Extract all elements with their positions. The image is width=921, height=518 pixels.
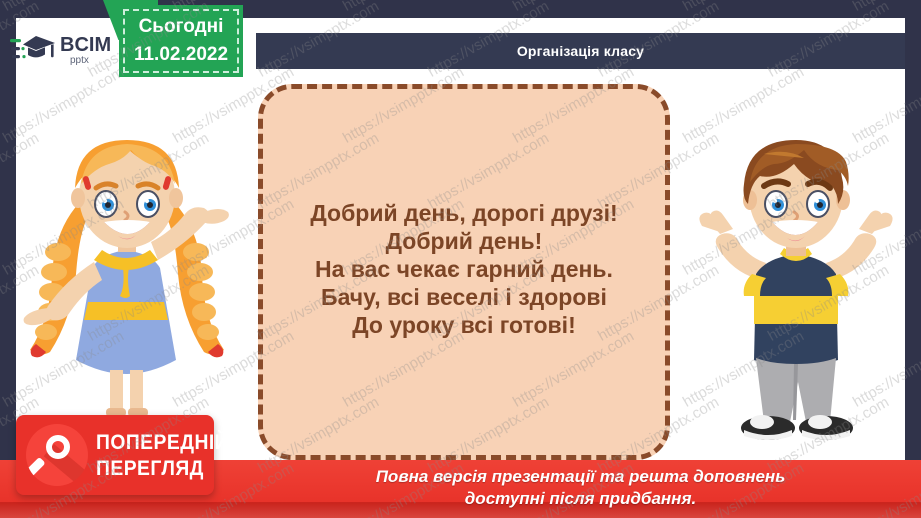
watermark-text: https://vsimpptx.com — [510, 0, 637, 15]
watermark-text: https://vsimpptx.com — [340, 0, 467, 15]
poem-line: На вас чекає гарний день. — [310, 255, 617, 283]
graduation-cap-icon — [10, 33, 56, 67]
bottom-banner-line1: Повна версія презентації та решта доповн… — [250, 466, 911, 488]
magnifier-icon — [26, 424, 88, 486]
cartoon-boy — [690, 128, 904, 448]
poem-line: Бачу, всі веселі і здорові — [310, 283, 617, 311]
poem-text: Добрий день, дорогі друзі! Добрий день! … — [310, 199, 617, 339]
logo-primary-text: BCIM — [60, 35, 111, 55]
logo-secondary-text: pptx — [70, 56, 111, 66]
cartoon-girl — [18, 132, 234, 420]
today-label: Сьогодні — [139, 16, 224, 38]
preview-label-line2: ПЕРЕГЛЯД — [96, 458, 229, 479]
today-date-badge: Сьогодні 11.02.2022 — [119, 5, 243, 77]
page-title: Організація класу — [517, 43, 644, 59]
poem-line: До уроку всі готові! — [310, 311, 617, 339]
bottom-banner-line2: доступні після придбання. — [250, 488, 911, 510]
watermark-text: https://vsimpptx.com — [850, 0, 921, 15]
poem-line: Добрий день! — [310, 227, 617, 255]
today-date: 11.02.2022 — [134, 44, 228, 66]
preview-label-line1: ПОПЕРЕДНІЙ — [96, 432, 229, 453]
poem-content-box: Добрий день, дорогі друзі! Добрий день! … — [258, 84, 670, 460]
presentation-slide: BCIM pptx Сьогодні 11.02.2022 Організаці… — [0, 0, 921, 518]
bottom-banner-text: Повна версія презентації та решта доповн… — [250, 466, 911, 510]
vsimpptx-logo[interactable]: BCIM pptx — [10, 28, 130, 72]
slide-header-bar: Організація класу — [256, 33, 905, 69]
poem-line: Добрий день, дорогі друзі! — [310, 199, 617, 227]
preview-badge[interactable]: ПОПЕРЕДНІЙ ПЕРЕГЛЯД — [16, 415, 214, 495]
watermark-text: https://vsimpptx.com — [680, 0, 807, 15]
